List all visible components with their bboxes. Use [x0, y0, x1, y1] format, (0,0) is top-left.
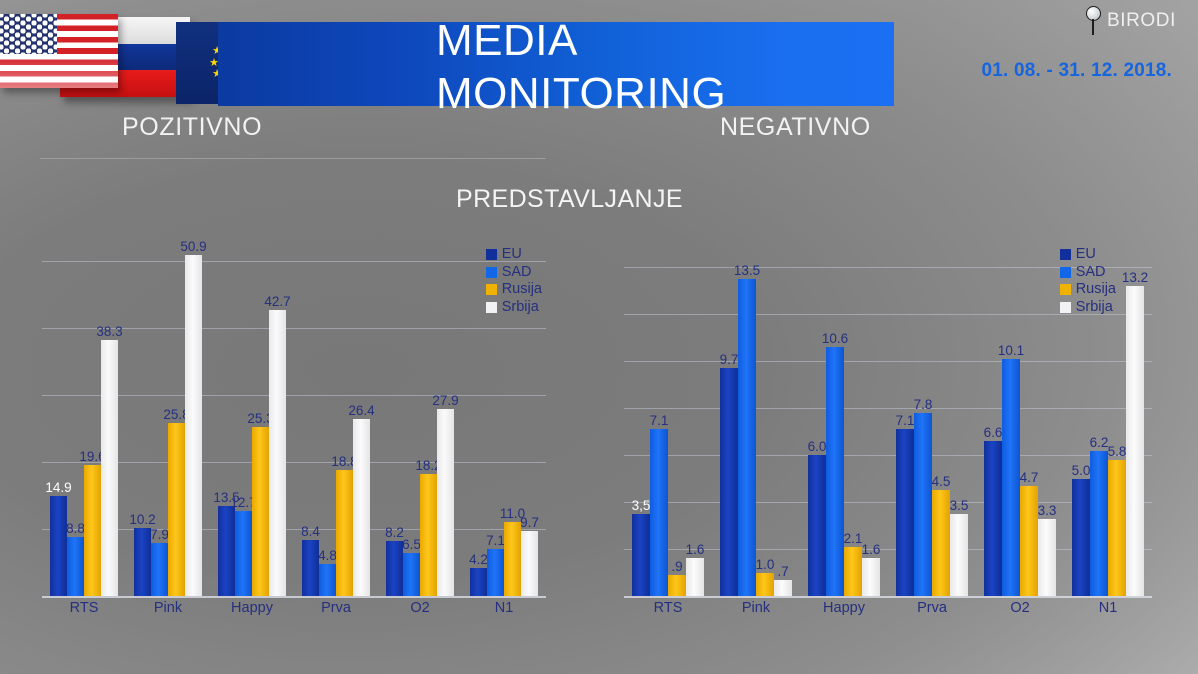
title-line-1: MEDIA	[436, 16, 578, 65]
bar-fill	[521, 531, 538, 596]
bar-group: 3,57.1.91.6	[624, 244, 712, 596]
bar-rusija-happy[interactable]: 2.1	[844, 547, 862, 596]
legend-item-sad[interactable]: SAD	[1060, 264, 1116, 282]
bar-eu-prva[interactable]: 8.4	[302, 540, 319, 596]
bar-sad-happy[interactable]: 12.7	[235, 511, 252, 596]
category-label-prva: Prva	[294, 600, 378, 616]
bar-eu-happy[interactable]: 6.0	[808, 455, 826, 596]
legend-item-rusija[interactable]: Rusija	[1060, 281, 1116, 299]
bar-fill	[1126, 286, 1144, 596]
category-label-happy: Happy	[210, 600, 294, 616]
legend-pozitivno: EUSADRusijaSrbija	[486, 246, 542, 316]
positive-label: POZITIVNO	[122, 113, 262, 142]
bar-value-label: 3.3	[1038, 503, 1057, 518]
bar-value-label: 5.0	[1072, 463, 1091, 478]
bar-fill	[101, 340, 118, 596]
bar-rusija-prva[interactable]: 18.8	[336, 470, 353, 596]
bar-eu-happy[interactable]: 13.5	[218, 506, 235, 596]
legend-label: Srbija	[502, 299, 539, 317]
bar-sad-prva[interactable]: 7.8	[914, 413, 932, 596]
bar-fill	[774, 580, 792, 596]
bar-rusija-prva[interactable]: 4.5	[932, 490, 950, 596]
bar-rusija-happy[interactable]: 25.3	[252, 427, 269, 596]
bar-rusija-n1[interactable]: 11.0	[504, 522, 521, 596]
bar-value-label: 5.8	[1108, 444, 1127, 459]
bar-srbija-o2[interactable]: 27.9	[437, 409, 454, 596]
bar-fill	[403, 553, 420, 596]
bar-fill	[487, 549, 504, 597]
legend-label: Rusija	[1076, 281, 1116, 299]
bar-srbija-o2[interactable]: 3.3	[1038, 519, 1056, 596]
bar-fill	[504, 522, 521, 596]
bar-group: 13.512.725.342.7	[210, 228, 294, 596]
bar-fill	[1090, 451, 1108, 596]
date-range: 01. 08. - 31. 12. 2018.	[981, 60, 1172, 82]
bar-group: 6.010.62.11.6	[800, 244, 888, 596]
bar-sad-n1[interactable]: 6.2	[1090, 451, 1108, 596]
x-axis-line	[42, 596, 546, 598]
plot-area-pozitivno: 14.98.819.638.310.27.925.850.913.512.725…	[42, 228, 546, 596]
chart-negativno: 3,57.1.91.69.713.51.0.76.010.62.11.67.17…	[624, 244, 1152, 596]
bar-fill	[932, 490, 950, 596]
category-label-o2: O2	[378, 600, 462, 616]
bar-group: 8.44.818.826.4	[294, 228, 378, 596]
legend-item-sad[interactable]: SAD	[486, 264, 542, 282]
bar-groups: 14.98.819.638.310.27.925.850.913.512.725…	[42, 228, 546, 596]
bar-rusija-rts[interactable]: .9	[668, 575, 686, 596]
bar-fill	[808, 455, 826, 596]
bar-value-label: 7.1	[896, 413, 915, 428]
bar-rusija-o2[interactable]: 4.7	[1020, 486, 1038, 596]
bar-sad-o2[interactable]: 10.1	[1002, 359, 1020, 596]
bar-value-label: 4.8	[318, 548, 337, 563]
bar-eu-rts[interactable]: 14.9	[50, 496, 67, 596]
bar-srbija-n1[interactable]: 9.7	[521, 531, 538, 596]
bar-fill	[756, 573, 774, 596]
bar-fill	[185, 255, 202, 596]
bar-value-label: 10.2	[129, 512, 155, 527]
bar-rusija-pink[interactable]: 1.0	[756, 573, 774, 596]
bar-eu-pink[interactable]: 10.2	[134, 528, 151, 596]
bar-value-label: 3.5	[950, 498, 969, 513]
legend-swatch-sad	[1060, 267, 1071, 278]
bar-eu-pink[interactable]: 9.7	[720, 368, 738, 596]
bar-rusija-pink[interactable]: 25.8	[168, 423, 185, 596]
negative-label: NEGATIVNO	[720, 113, 871, 142]
bar-fill	[151, 543, 168, 596]
bar-value-label: 14.9	[45, 480, 71, 495]
bar-fill	[470, 568, 487, 596]
bar-srbija-rts[interactable]: 1.6	[686, 558, 704, 596]
bar-value-label: 4.5	[932, 474, 951, 489]
bar-fill	[420, 474, 437, 596]
bar-fill	[168, 423, 185, 596]
bar-value-label: 8.8	[66, 521, 85, 536]
bar-sad-n1[interactable]: 7.1	[487, 549, 504, 597]
bar-value-label: 13.2	[1122, 270, 1148, 285]
bar-eu-o2[interactable]: 6.6	[984, 441, 1002, 596]
legend-item-eu[interactable]: EU	[486, 246, 542, 264]
pin-icon	[1085, 6, 1103, 36]
bar-fill	[353, 419, 370, 596]
bar-eu-n1[interactable]: 5.0	[1072, 479, 1090, 596]
category-label-pink: Pink	[126, 600, 210, 616]
bar-value-label: 6.0	[808, 439, 827, 454]
bar-rusija-rts[interactable]: 19.6	[84, 465, 101, 596]
bar-group: 9.713.51.0.7	[712, 244, 800, 596]
bar-fill	[319, 564, 336, 596]
bar-value-label: 3,5	[632, 498, 651, 513]
bar-value-label: 1.0	[756, 557, 775, 572]
legend-negativno: EUSADRusijaSrbija	[1060, 246, 1116, 316]
category-label-rts: RTS	[42, 600, 126, 616]
bar-fill	[1020, 486, 1038, 596]
bar-value-label: 4.2	[469, 552, 488, 567]
section-title: PREDSTAVLJANJE	[456, 185, 683, 214]
bar-sad-pink[interactable]: 7.9	[151, 543, 168, 596]
bar-eu-o2[interactable]: 8.2	[386, 541, 403, 596]
category-label-happy: Happy	[800, 600, 888, 616]
bar-fill	[386, 541, 403, 596]
bar-value-label: 50.9	[180, 239, 206, 254]
legend-swatch-srbija	[486, 302, 497, 313]
title-line-2: MONITORING	[436, 67, 996, 120]
bar-srbija-happy[interactable]: 42.7	[269, 310, 286, 596]
bar-fill	[914, 413, 932, 596]
legend-swatch-rusija	[486, 284, 497, 295]
bar-fill	[235, 511, 252, 596]
bar-fill	[686, 558, 704, 596]
category-label-o2: O2	[976, 600, 1064, 616]
bar-fill	[844, 547, 862, 596]
header-divider	[40, 158, 546, 159]
legend-swatch-rusija	[1060, 284, 1071, 295]
bar-fill	[738, 279, 756, 596]
bar-sad-rts[interactable]: 8.8	[67, 537, 84, 596]
legend-label: SAD	[1076, 264, 1106, 282]
org-branding: BIRODI	[1085, 6, 1176, 36]
bar-fill	[826, 347, 844, 596]
legend-item-srbija[interactable]: Srbija	[486, 299, 542, 317]
bar-fill	[269, 310, 286, 596]
bar-fill	[302, 540, 319, 596]
bar-value-label: 7.9	[150, 527, 169, 542]
bar-eu-rts[interactable]: 3,5	[632, 514, 650, 596]
bar-fill	[84, 465, 101, 596]
bar-srbija-n1[interactable]: 13.2	[1126, 286, 1144, 596]
us-flag-icon	[0, 14, 118, 88]
bar-fill	[950, 514, 968, 596]
legend-label: EU	[1076, 246, 1096, 264]
bar-srbija-pink[interactable]: .7	[774, 580, 792, 596]
bar-fill	[252, 427, 269, 596]
category-label-rts: RTS	[624, 600, 712, 616]
bar-value-label: .7	[777, 564, 788, 579]
bar-fill	[650, 429, 668, 596]
bar-fill	[67, 537, 84, 596]
bar-fill	[336, 470, 353, 596]
category-label-n1: N1	[462, 600, 546, 616]
bar-value-label: 2.1	[844, 531, 863, 546]
legend-label: SAD	[502, 264, 532, 282]
bar-group: 7.17.84.53.5	[888, 244, 976, 596]
category-labels-pozitivno: RTSPinkHappyPrvaO2N1	[42, 600, 546, 616]
bar-value-label: 7.8	[914, 397, 933, 412]
category-label-pink: Pink	[712, 600, 800, 616]
bar-group: 10.27.925.850.9	[126, 228, 210, 596]
bar-eu-n1[interactable]: 4.2	[470, 568, 487, 596]
bar-value-label: 8.2	[385, 525, 404, 540]
bar-fill	[896, 429, 914, 596]
bar-fill	[984, 441, 1002, 596]
bar-rusija-o2[interactable]: 18.2	[420, 474, 437, 596]
bar-sad-happy[interactable]: 10.6	[826, 347, 844, 596]
bar-fill	[720, 368, 738, 596]
bar-value-label: 6.6	[984, 425, 1003, 440]
category-label-n1: N1	[1064, 600, 1152, 616]
legend-label: Rusija	[502, 281, 542, 299]
bar-sad-pink[interactable]: 13.5	[738, 279, 756, 596]
bar-fill	[1108, 460, 1126, 596]
bar-fill	[862, 558, 880, 596]
bar-value-label: 10.6	[822, 331, 848, 346]
bar-fill	[1002, 359, 1020, 596]
bar-value-label: 42.7	[264, 294, 290, 309]
bar-sad-o2[interactable]: 6.5	[403, 553, 420, 596]
bar-group: 6.610.14.73.3	[976, 244, 1064, 596]
legend-swatch-srbija	[1060, 302, 1071, 313]
x-axis-line	[624, 596, 1152, 598]
legend-item-rusija[interactable]: Rusija	[486, 281, 542, 299]
bar-fill	[50, 496, 67, 596]
bar-value-label: 8.4	[301, 524, 320, 539]
bar-srbija-prva[interactable]: 26.4	[353, 419, 370, 596]
bar-value-label: 38.3	[96, 324, 122, 339]
bar-value-label: 7.1	[486, 533, 505, 548]
bar-fill	[134, 528, 151, 596]
bar-value-label: 4.7	[1020, 470, 1039, 485]
bar-srbija-happy[interactable]: 1.6	[862, 558, 880, 596]
legend-swatch-eu	[1060, 249, 1071, 260]
bar-value-label: .9	[671, 559, 682, 574]
slide-canvas: ★★★★★★★★★★★★ MEDIA MONITORING POZITIVNO …	[0, 0, 1198, 674]
legend-item-srbija[interactable]: Srbija	[1060, 299, 1116, 317]
bar-rusija-n1[interactable]: 5.8	[1108, 460, 1126, 596]
bar-value-label: 9.7	[720, 352, 739, 367]
bar-value-label: 26.4	[348, 403, 374, 418]
bar-sad-rts[interactable]: 7.1	[650, 429, 668, 596]
bar-group: 14.98.819.638.3	[42, 228, 126, 596]
bar-fill	[668, 575, 686, 596]
page-title: MEDIA MONITORING	[436, 14, 996, 120]
bar-value-label: 13.5	[734, 263, 760, 278]
bar-value-label: 6.5	[402, 537, 421, 552]
legend-label: EU	[502, 246, 522, 264]
bar-value-label: 7.1	[650, 413, 669, 428]
bar-fill	[437, 409, 454, 596]
legend-swatch-sad	[486, 267, 497, 278]
bar-fill	[1072, 479, 1090, 596]
bar-srbija-prva[interactable]: 3.5	[950, 514, 968, 596]
bar-fill	[1038, 519, 1056, 596]
legend-item-eu[interactable]: EU	[1060, 246, 1116, 264]
bar-value-label: 10.1	[998, 343, 1024, 358]
bar-value-label: 9.7	[520, 515, 539, 530]
bar-eu-prva[interactable]: 7.1	[896, 429, 914, 596]
chart-pozitivno: 14.98.819.638.310.27.925.850.913.512.725…	[42, 228, 546, 596]
legend-label: Srbija	[1076, 299, 1113, 317]
bar-value-label: 1.6	[862, 542, 881, 557]
bar-sad-prva[interactable]: 4.8	[319, 564, 336, 596]
bar-value-label: 1.6	[686, 542, 705, 557]
bar-value-label: 27.9	[432, 393, 458, 408]
bar-fill	[218, 506, 235, 596]
bar-fill	[632, 514, 650, 596]
org-label: BIRODI	[1107, 10, 1176, 32]
bar-group: 8.26.518.227.9	[378, 228, 462, 596]
bar-srbija-rts[interactable]: 38.3	[101, 340, 118, 596]
bar-srbija-pink[interactable]: 50.9	[185, 255, 202, 596]
bar-value-label: 6.2	[1090, 435, 1109, 450]
category-labels-negativno: RTSPinkHappyPrvaO2N1	[624, 600, 1152, 616]
legend-swatch-eu	[486, 249, 497, 260]
category-label-prva: Prva	[888, 600, 976, 616]
